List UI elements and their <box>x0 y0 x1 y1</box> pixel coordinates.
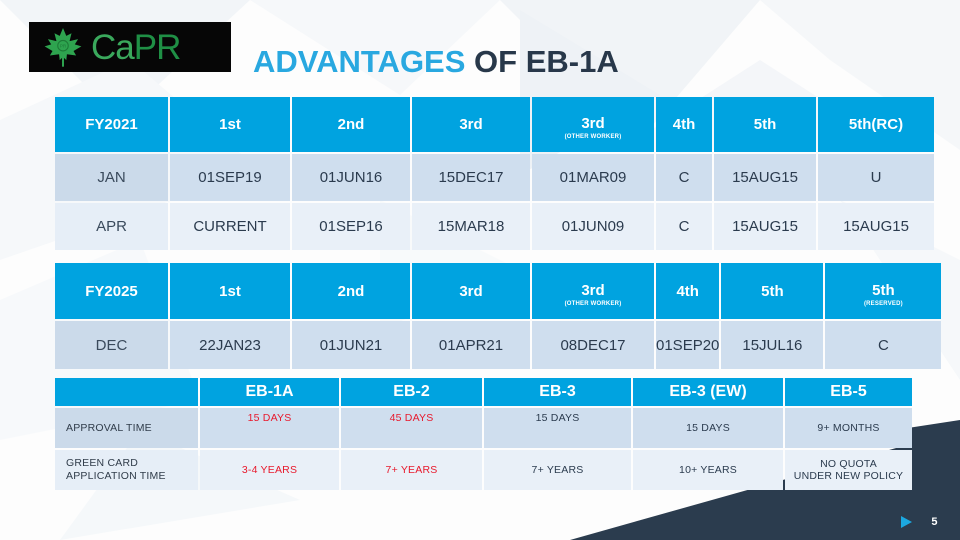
column-header-label: 5th(RC) <box>849 116 903 133</box>
column-header: 1st <box>170 263 290 319</box>
table-cell: 01JUN21 <box>292 321 410 369</box>
column-header-label: 2nd <box>338 116 365 133</box>
column-header: 4th <box>656 263 719 319</box>
column-header: EB-3 (EW) <box>633 378 783 406</box>
column-header-label: 5th <box>872 282 895 299</box>
column-header: 2nd <box>292 263 410 319</box>
row-label: APR <box>55 203 168 250</box>
table-row: APRCURRENT01SEP1615MAR1801JUN09C15AUG151… <box>55 203 934 250</box>
column-header: FY2021 <box>55 97 168 152</box>
column-header-sublabel: (OTHER WORKER) <box>532 301 654 307</box>
table-cell: 01JUN16 <box>292 154 410 201</box>
table-cell: 01SEP19 <box>170 154 290 201</box>
column-header-label: 1st <box>219 116 241 133</box>
page-title: ADVANTAGES OF EB-1A <box>253 44 619 80</box>
table-cell: 15JUL16 <box>721 321 823 369</box>
column-header: EB-3 <box>484 378 631 406</box>
row-label: APPROVAL TIME <box>55 408 198 448</box>
column-header-blank <box>55 378 198 406</box>
table-cell: C <box>656 154 712 201</box>
table-cell: 15AUG15 <box>714 154 816 201</box>
table-cell: 15AUG15 <box>818 203 934 250</box>
column-header: EB-5 <box>785 378 912 406</box>
column-header: 3rd(OTHER WORKER) <box>532 97 654 152</box>
table-cell: 01MAR09 <box>532 154 654 201</box>
column-header: EB-1A <box>200 378 339 406</box>
table-cell: 7+ YEARS <box>484 450 631 490</box>
title-rest: OF EB-1A <box>465 44 618 79</box>
table-cell: 45 DAYS <box>341 408 482 448</box>
table-cell: 01JUN09 <box>532 203 654 250</box>
column-header-label: 3rd <box>581 115 604 132</box>
table-cell: 15AUG15 <box>714 203 816 250</box>
table-header-row: EB-1AEB-2EB-3EB-3 (EW)EB-5 <box>55 378 912 406</box>
column-header: 5th <box>721 263 823 319</box>
column-header-label: 5th <box>754 116 777 133</box>
row-label: GREEN CARDAPPLICATION TIME <box>55 450 198 490</box>
table-cell: 01APR21 <box>412 321 530 369</box>
column-header: FY2025 <box>55 263 168 319</box>
table-cell: 10+ YEARS <box>633 450 783 490</box>
table-category-comparison: EB-1AEB-2EB-3EB-3 (EW)EB-5APPROVAL TIME1… <box>53 376 914 492</box>
column-header-label: 5th <box>761 283 784 300</box>
table-cell: 15MAR18 <box>412 203 530 250</box>
table-row: JAN01SEP1901JUN1615DEC1701MAR09C15AUG15U <box>55 154 934 201</box>
table-header-row: FY20251st2nd3rd3rd(OTHER WORKER)4th5th5t… <box>55 263 941 319</box>
column-header: 3rd <box>412 97 530 152</box>
column-header-label: FY2021 <box>85 116 138 133</box>
row-label: DEC <box>55 321 168 369</box>
column-header-label: 1st <box>219 283 241 300</box>
column-header-label: 3rd <box>581 282 604 299</box>
column-header: 2nd <box>292 97 410 152</box>
column-header: 3rd(OTHER WORKER) <box>532 263 654 319</box>
table-cell: 08DEC17 <box>532 321 654 369</box>
column-header: 5th <box>714 97 816 152</box>
table-cell: 01SEP20 <box>656 321 719 369</box>
title-highlight: ADVANTAGES <box>253 44 465 79</box>
table-row: DEC22JAN2301JUN2101APR2108DEC1701SEP2015… <box>55 321 941 369</box>
table-cell: 22JAN23 <box>170 321 290 369</box>
table-cell: C <box>656 203 712 250</box>
table-row: GREEN CARDAPPLICATION TIME3-4 YEARS7+ YE… <box>55 450 912 490</box>
column-header-label: 3rd <box>459 116 482 133</box>
table-cell: 15 DAYS <box>484 408 631 448</box>
svg-text:PR: PR <box>60 44 67 49</box>
column-header: 5th(RESERVED) <box>825 263 941 319</box>
table-cell: 15DEC17 <box>412 154 530 201</box>
column-header: 5th(RC) <box>818 97 934 152</box>
table-cell: 15 DAYS <box>200 408 339 448</box>
capr-logo: PR CaPR <box>29 22 231 72</box>
table-cell: CURRENT <box>170 203 290 250</box>
maple-leaf-icon: PR <box>41 26 85 68</box>
column-header: 3rd <box>412 263 530 319</box>
row-label: JAN <box>55 154 168 201</box>
column-header-label: 4th <box>673 116 696 133</box>
table-cell: 3-4 YEARS <box>200 450 339 490</box>
logo-wordmark: CaPR <box>91 30 180 65</box>
table-fy2025: FY20251st2nd3rd3rd(OTHER WORKER)4th5th5t… <box>53 261 943 371</box>
page-arrow-icon <box>901 516 912 528</box>
column-header: EB-2 <box>341 378 482 406</box>
table-cell: 15 DAYS <box>633 408 783 448</box>
logo-text-ca: Ca <box>91 30 134 65</box>
table-header-row: FY20211st2nd3rd3rd(OTHER WORKER)4th5th5t… <box>55 97 934 152</box>
column-header-sublabel: (RESERVED) <box>825 301 941 307</box>
table-cell: 01SEP16 <box>292 203 410 250</box>
table-cell: C <box>825 321 941 369</box>
table-cell: NO QUOTAUNDER NEW POLICY <box>785 450 912 490</box>
column-header-label: 3rd <box>459 283 482 300</box>
column-header-label: 4th <box>676 283 699 300</box>
table-fy2021: FY20211st2nd3rd3rd(OTHER WORKER)4th5th5t… <box>53 95 936 252</box>
table-row: APPROVAL TIME15 DAYS45 DAYS15 DAYS15 DAY… <box>55 408 912 448</box>
column-header-sublabel: (OTHER WORKER) <box>532 134 654 140</box>
table-cell: U <box>818 154 934 201</box>
table-cell: 9+ MONTHS <box>785 408 912 448</box>
column-header: 4th <box>656 97 712 152</box>
page-number: 5 <box>931 516 938 528</box>
column-header-label: FY2025 <box>85 283 138 300</box>
table-cell: 7+ YEARS <box>341 450 482 490</box>
column-header-label: 2nd <box>338 283 365 300</box>
logo-text-pr: PR <box>134 30 181 65</box>
column-header: 1st <box>170 97 290 152</box>
